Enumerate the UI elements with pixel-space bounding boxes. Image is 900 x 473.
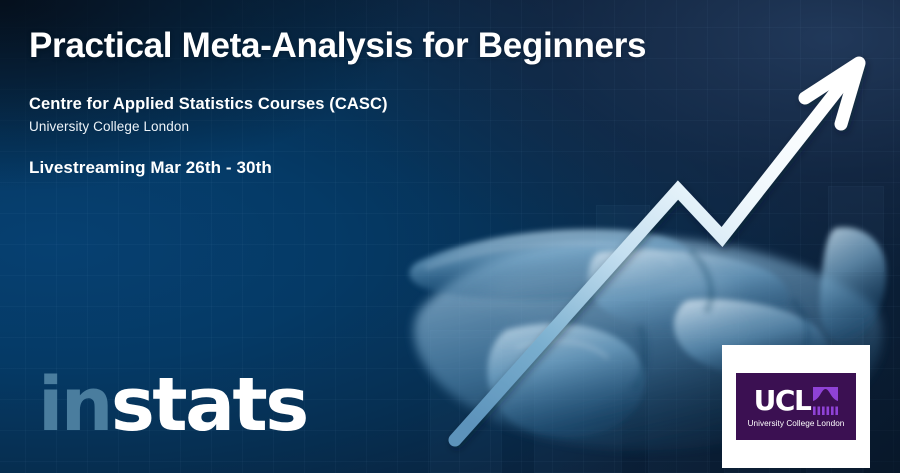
- ucl-logo-name: University College London: [748, 419, 845, 428]
- organisation-name: Centre for Applied Statistics Courses (C…: [29, 95, 646, 114]
- ucl-logo-card: UCL U: [722, 345, 870, 468]
- instats-logo: instats: [38, 368, 307, 442]
- event-dates: Livestreaming Mar 26th - 30th: [29, 158, 646, 178]
- university-name: University College London: [29, 119, 646, 134]
- ucl-logo: UCL U: [736, 373, 856, 440]
- ucl-logo-letters: UCL: [754, 388, 811, 415]
- instats-logo-stats: stats: [111, 362, 307, 448]
- page-title: Practical Meta-Analysis for Beginners: [29, 27, 646, 66]
- course-promo-banner: Practical Meta-Analysis for Beginners Ce…: [0, 0, 900, 473]
- headline-block: Practical Meta-Analysis for Beginners Ce…: [29, 27, 646, 178]
- ucl-logo-mark: UCL: [754, 385, 839, 415]
- ucl-portico-icon: [813, 387, 838, 415]
- instats-logo-in: in: [38, 362, 111, 448]
